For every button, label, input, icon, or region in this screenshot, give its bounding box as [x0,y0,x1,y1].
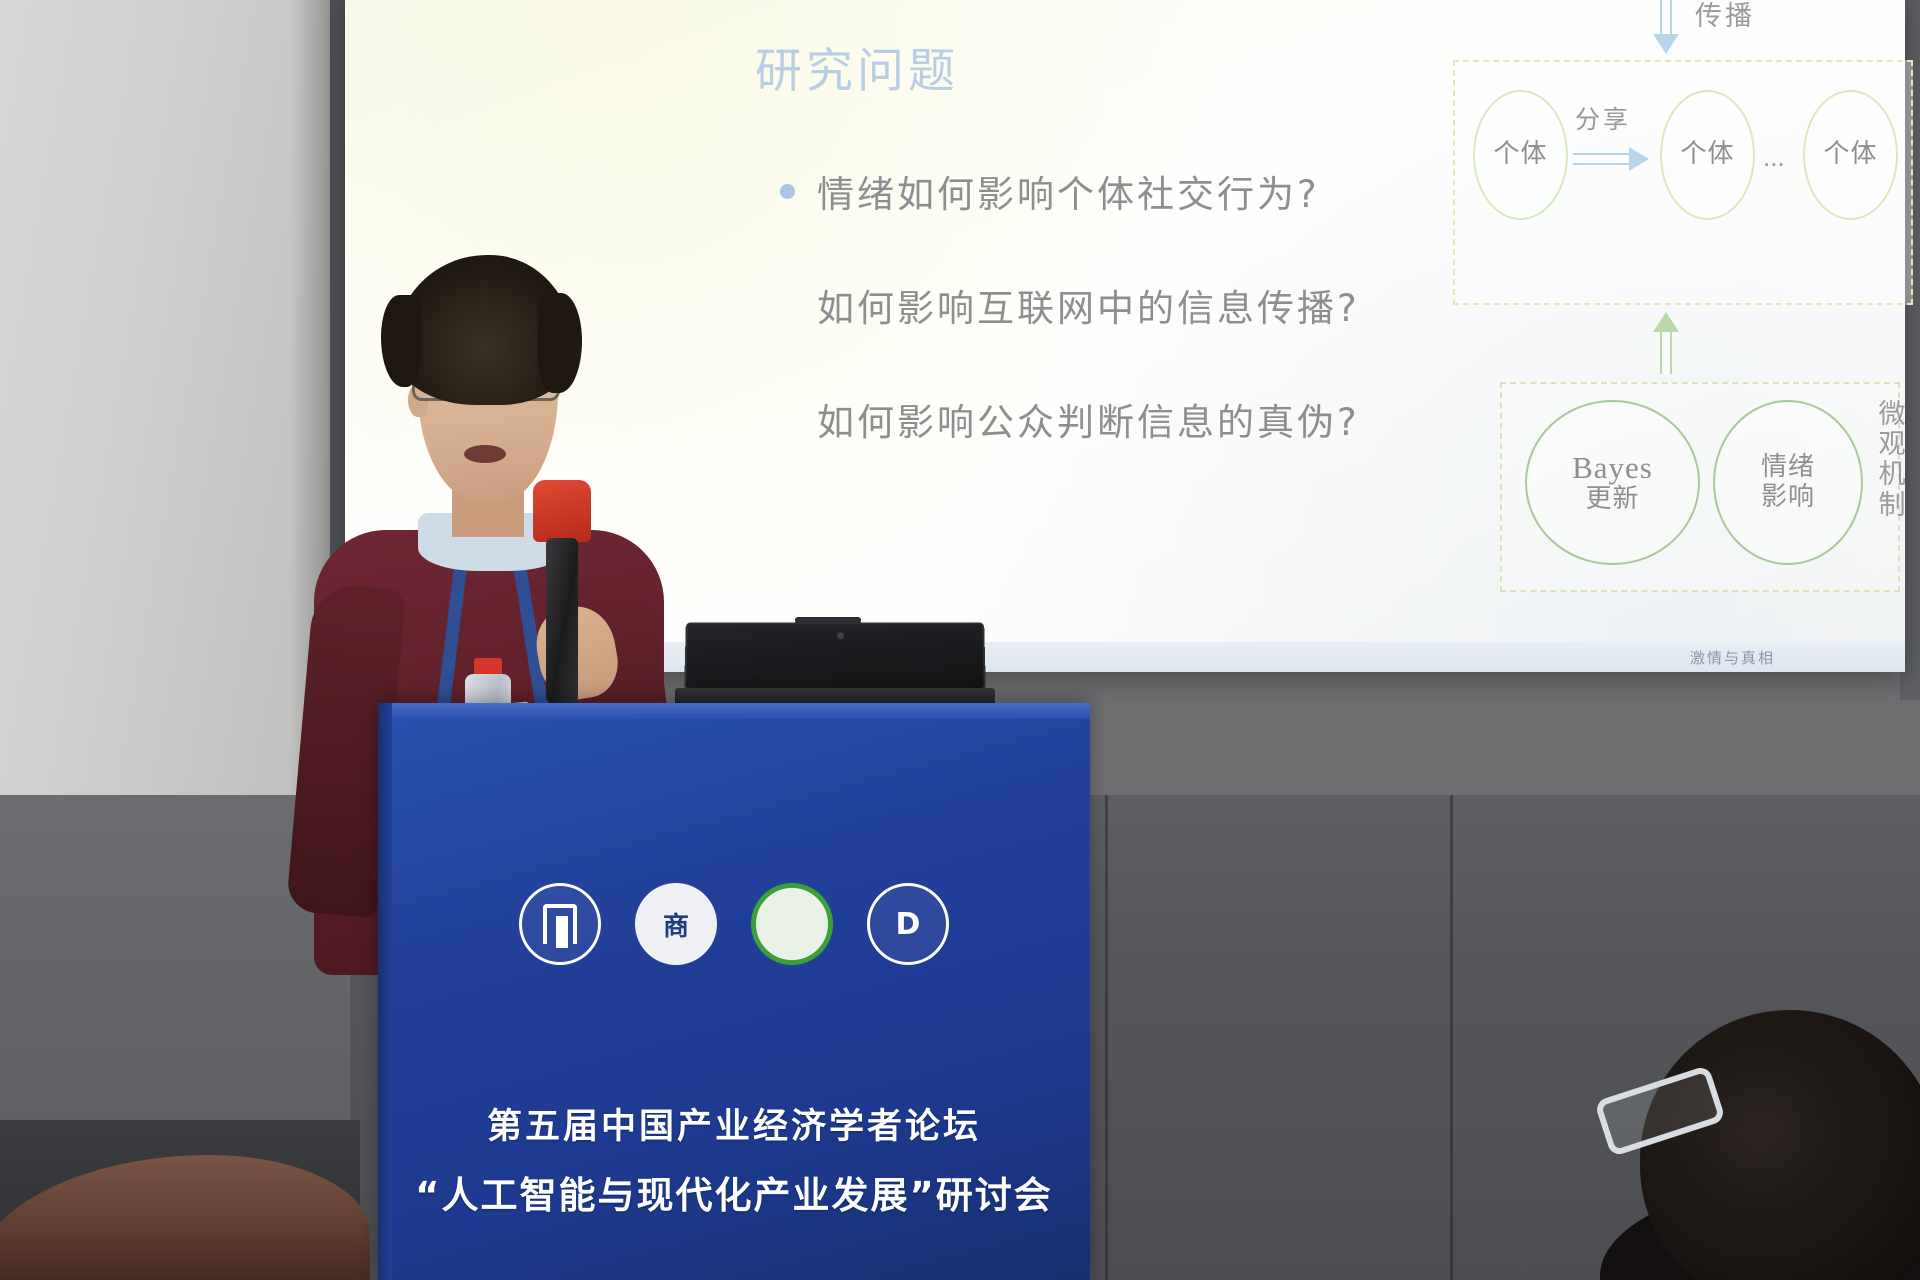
bayes-update-ellipse: Bayes 更新 [1525,400,1700,565]
diagram-ellipsis: ... [1763,142,1785,173]
business-school-logo: 商 [635,883,717,965]
spread-arrow-down-icon [1653,0,1679,56]
logo-row: 商 D [378,883,1090,965]
bullet-text: 情绪如何影响个体社交行为? [817,164,1320,218]
conference-photo: 研究问题 情绪如何影响个体社交行为? 如何影响互联网中的信息传播? 如何影响公众… [0,0,1920,1280]
bullet-text: 如何影响互联网中的信息传播? [817,278,1360,332]
microphone-handle [546,538,578,703]
ningbo-university-logo [519,883,601,965]
micro-mechanism-label: 微观机制 [1875,400,1909,521]
slide-bullet-2: 如何影响互联网中的信息传播? [780,278,1360,332]
mechanism-arrow-up-icon [1653,312,1679,374]
conference-title-line2: “人工智能与现代化产业发展”研讨会 [378,1165,1090,1219]
individual-ellipse-2: 个体 [1660,90,1755,220]
individual-ellipse-3: 个体 [1803,90,1898,220]
individual-label: 个体 [1680,140,1734,170]
wall-panel-seam [1450,795,1453,1280]
slide-bullet-3: 如何影响公众判断信息的真伪? [780,392,1360,446]
wall-panel-seam [1105,795,1108,1280]
bullet-text: 如何影响公众判断信息的真伪? [817,392,1360,446]
fourth-institution-logo: D [867,883,949,965]
speaker-hair-right [538,293,582,393]
green-institute-logo [751,883,833,965]
podium-banner: 商 D 第五届中国产业经济学者论坛 “人工智能与现代化产业发展”研讨会 [378,703,1090,1280]
slide-diagram: 传播 个体 分享 个体 ... 个体 Bayes 更新 [1445,0,1915,612]
share-arrow-right-icon [1573,147,1655,171]
laptop-camera-icon [837,632,844,639]
individual-label: 个体 [1823,140,1877,170]
laptop-screen [684,622,986,690]
microphone-windscreen [533,480,591,542]
emotion-label-line1: 情绪 [1761,453,1815,483]
slide-watermark: 激情与真相 [1690,647,1775,668]
podium-top-edge [378,703,1090,719]
conference-title-line1: 第五届中国产业经济学者论坛 [378,1098,1090,1149]
individual-label: 个体 [1493,140,1547,170]
bullet-dot-icon [780,184,795,199]
slide-bullet-1: 情绪如何影响个体社交行为? [780,164,1320,218]
spread-label: 传播 [1695,0,1755,33]
speaker-mouth [464,445,506,463]
slide-title: 研究问题 [755,32,959,101]
update-label: 更新 [1585,485,1639,515]
individual-ellipse-1: 个体 [1473,90,1568,220]
bayes-label: Bayes [1572,450,1653,486]
emotion-influence-ellipse: 情绪 影响 [1713,400,1863,565]
emotion-label-line2: 影响 [1761,483,1815,513]
microphone [530,480,594,710]
share-label: 分享 [1575,100,1631,136]
